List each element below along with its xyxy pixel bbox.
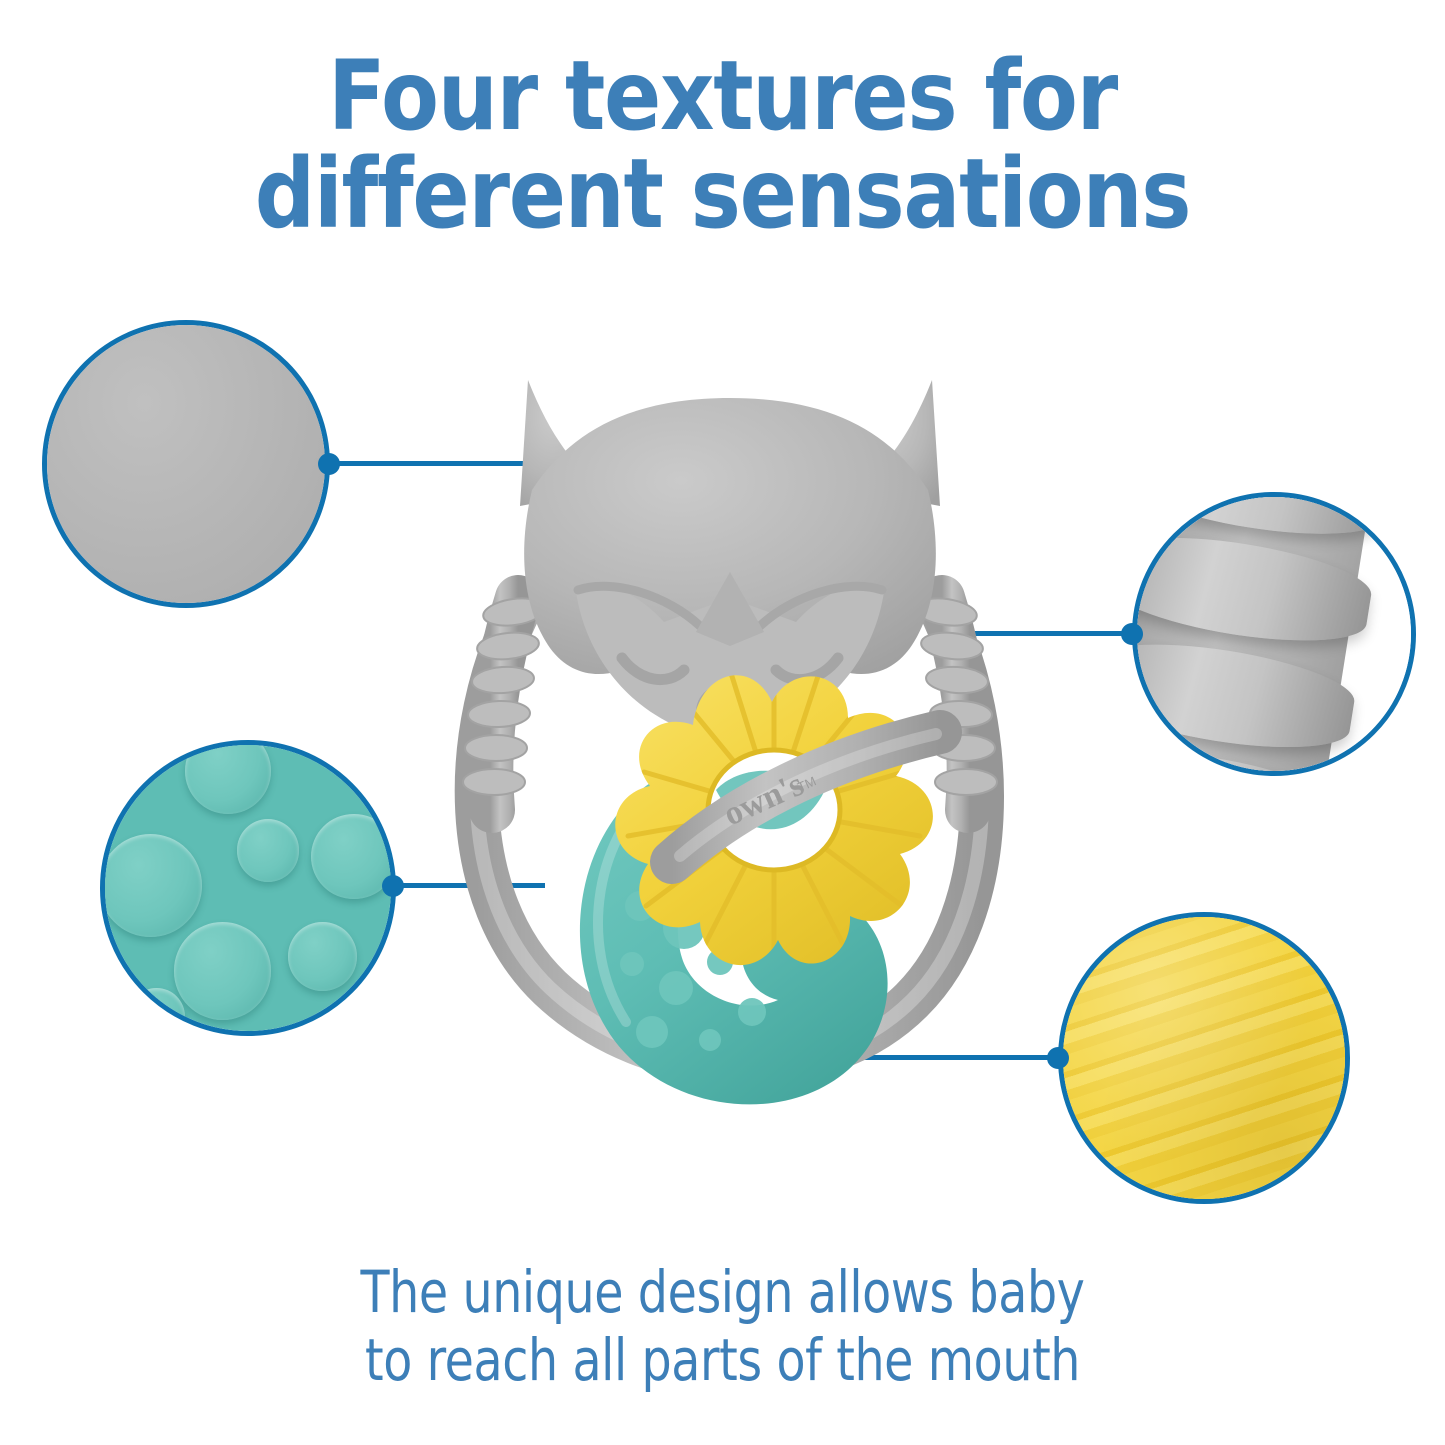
page-title: Four textures for different sensations xyxy=(87,48,1359,244)
texture-swatch-smooth-gray xyxy=(47,325,325,603)
callout-circle-teal-bumps xyxy=(100,740,396,1036)
ridge-stack xyxy=(1132,492,1394,776)
yellow-shading xyxy=(1063,917,1345,1199)
infographic-canvas: Four textures for different sensations xyxy=(0,0,1445,1445)
texture-swatch-gray-ridges xyxy=(1137,497,1411,771)
callout-circle-ridged-gray xyxy=(1132,492,1416,776)
texture-swatch-yellow-stripes xyxy=(1063,917,1345,1199)
callout-circle-smooth-gray xyxy=(42,320,330,608)
page-caption: The unique design allows baby to reach a… xyxy=(130,1258,1315,1395)
callout-circle-yellow-stripes xyxy=(1058,912,1350,1204)
texture-swatch-teal-bumps xyxy=(105,745,391,1031)
product-image-fox-teether: own's TM xyxy=(400,340,1060,1190)
